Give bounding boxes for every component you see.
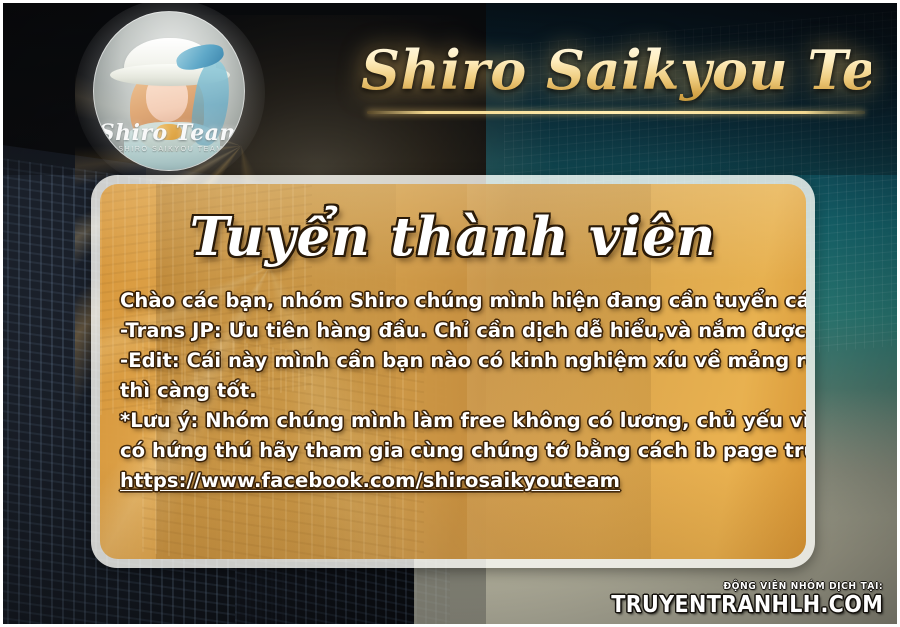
site-title-block: Shiro Saikyou Team xyxy=(361,39,871,131)
shiro-team-logo: Shiro Team SHIRO SAIKYOU TEAM xyxy=(91,11,249,173)
credit-site-name: TRUYENTRANHLH.COM xyxy=(611,593,883,618)
panel-body: Chào các bạn, nhóm Shiro chúng mình hiện… xyxy=(120,286,786,496)
site-title: Shiro Saikyou Team xyxy=(361,39,871,101)
panel-headline: Tuyển thành viên xyxy=(120,200,786,274)
panel-content: Tuyển thành viên Chào các bạn, nhóm Shir… xyxy=(100,184,806,559)
logo-subline: SHIRO SAIKYOU TEAM xyxy=(94,146,245,153)
credit-kicker: ĐỘNG VIÊN NHÓM DỊCH TẠI: xyxy=(605,581,883,592)
body-line: Chào các bạn, nhóm Shiro chúng mình hiện… xyxy=(120,286,786,316)
site-title-underline xyxy=(367,111,865,114)
body-line: có hứng thú hãy tham gia cùng chúng tớ b… xyxy=(120,436,786,466)
recruitment-poster: Shiro Team SHIRO SAIKYOU TEAM Shiro Saik… xyxy=(0,0,900,627)
body-line: *Lưu ý: Nhóm chúng mình làm free không c… xyxy=(120,406,786,436)
facebook-page-link[interactable]: https://www.facebook.com/shirosaikyoutea… xyxy=(120,466,786,496)
body-line: thì càng tốt. xyxy=(120,376,786,406)
poster-header: Shiro Team SHIRO SAIKYOU TEAM Shiro Saik… xyxy=(3,3,900,175)
content-panel: Tuyển thành viên Chào các bạn, nhóm Shir… xyxy=(91,175,815,568)
body-line: -Trans JP: Ưu tiên hàng đầu. Chỉ cần dịc… xyxy=(120,316,786,346)
body-line: -Edit: Cái này mình cần bạn nào có kinh … xyxy=(120,346,786,376)
footer-credit: ĐỘNG VIÊN NHÓM DỊCH TẠI: TRUYENTRANHLH.C… xyxy=(581,581,883,618)
logo-circle-frame: Shiro Team SHIRO SAIKYOU TEAM xyxy=(93,11,245,171)
content-panel-inner: Tuyển thành viên Chào các bạn, nhóm Shir… xyxy=(100,184,806,559)
logo-wordmark: Shiro Team xyxy=(94,120,245,146)
